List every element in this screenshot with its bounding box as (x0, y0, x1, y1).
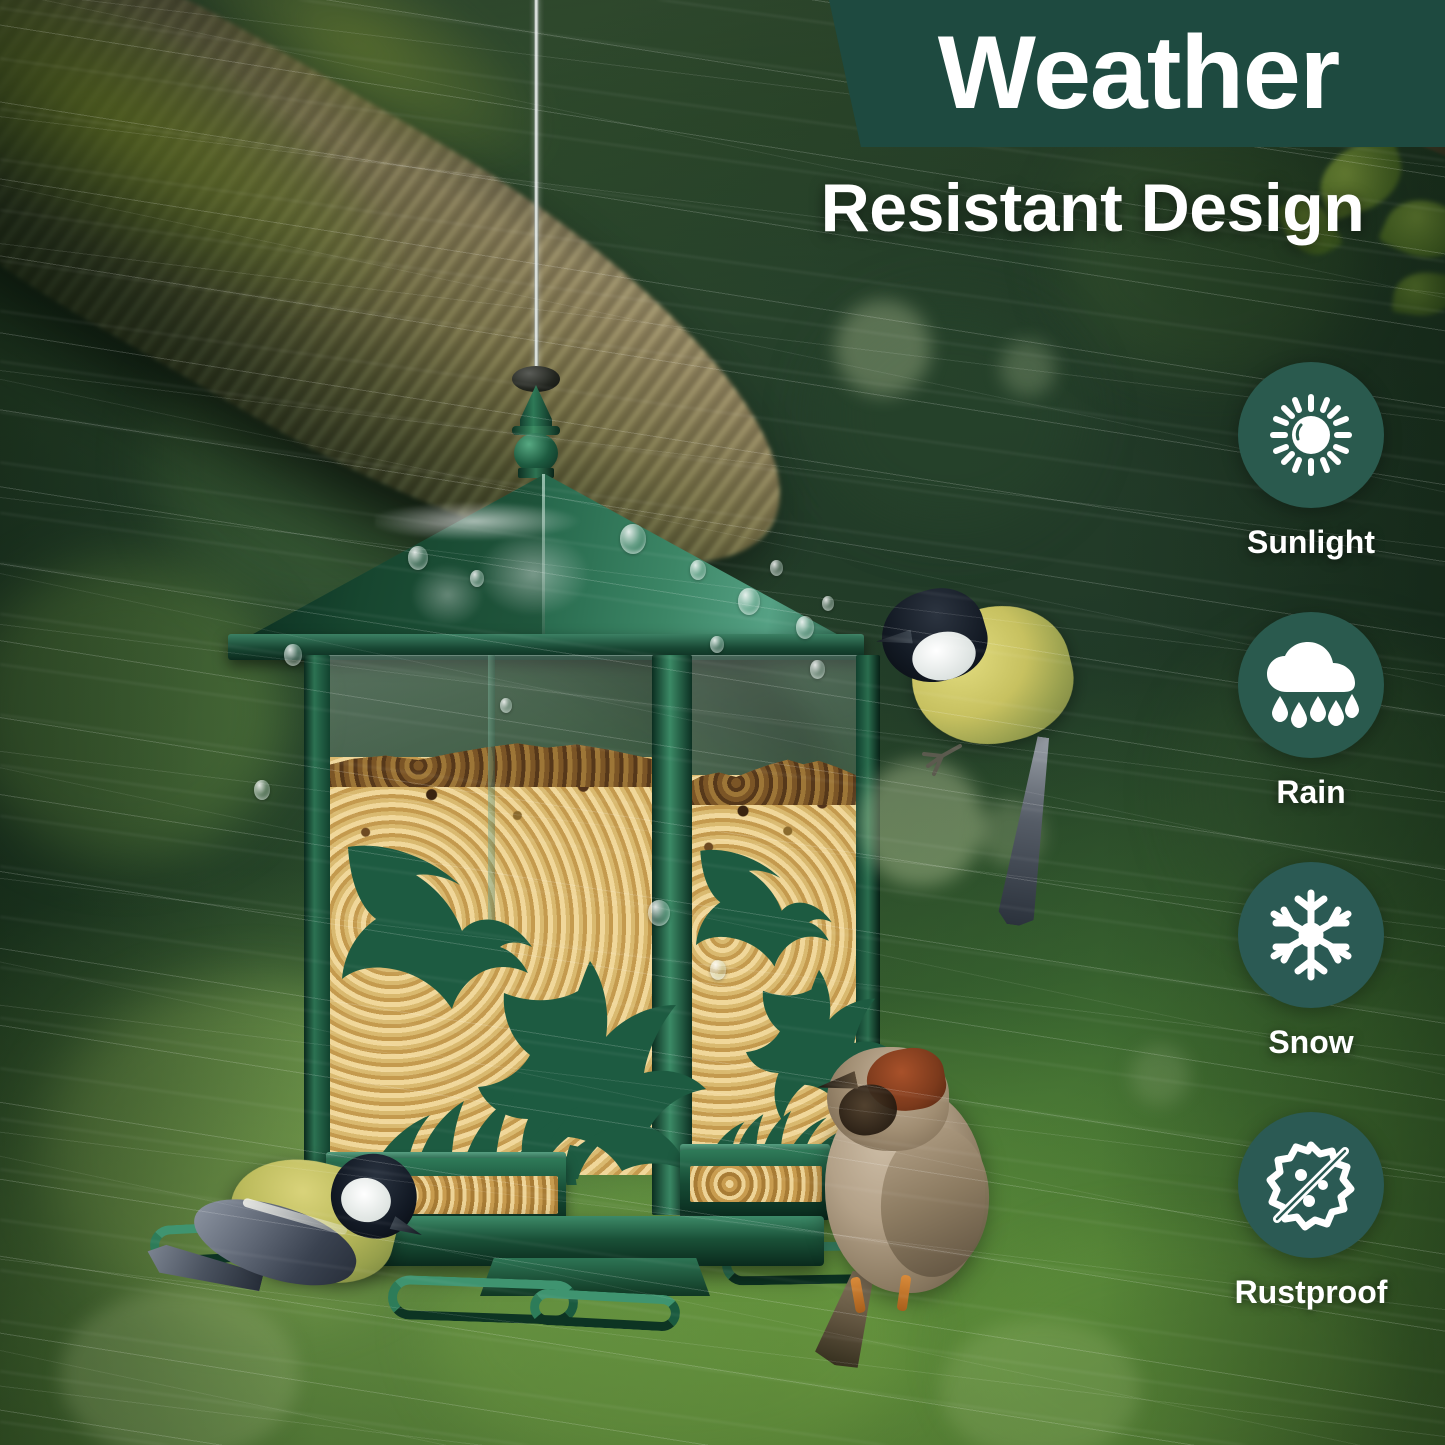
water-droplet (690, 560, 706, 580)
feature-rain[interactable]: Rain (1186, 612, 1436, 811)
page-title-line1: Weather (806, 0, 1445, 147)
feature-label: Rustproof (1186, 1274, 1436, 1311)
perch-ring (529, 1288, 681, 1332)
feature-label: Rain (1186, 774, 1436, 811)
feature-badge-circle (1238, 862, 1384, 1008)
great-tit-feeding (145, 1148, 455, 1348)
water-droplet (470, 570, 484, 587)
house-sparrow-perched (805, 1035, 1025, 1365)
great-tit-in-flight (870, 440, 1200, 900)
water-droplet (254, 780, 270, 800)
snowflake-icon (1265, 889, 1357, 981)
water-droplet (648, 900, 670, 926)
water-droplet (284, 644, 302, 666)
feature-badge-circle (1238, 612, 1384, 758)
water-droplet (710, 636, 724, 653)
water-droplet (796, 616, 814, 639)
rustproof-icon (1265, 1139, 1357, 1231)
hummingbird-cutout (696, 843, 846, 973)
finial-ball (514, 433, 558, 473)
water-droplet (810, 660, 825, 679)
feature-badge-circle (1238, 1112, 1384, 1258)
water-droplet (770, 560, 783, 576)
feature-sunlight[interactable]: Sunlight (1186, 362, 1436, 561)
frame-post-left (304, 655, 330, 1215)
feature-label: Sunlight (1186, 524, 1436, 561)
rain-cloud-icon (1263, 642, 1359, 728)
feature-snow[interactable]: Snow (1186, 862, 1436, 1061)
tray-birdseed (690, 1166, 822, 1202)
roof-finial (520, 385, 552, 429)
feature-badge-list: Sunlight Rain (1186, 362, 1436, 1362)
hang-wire (534, 0, 539, 371)
water-droplet (738, 588, 760, 615)
bokeh-light (1000, 340, 1056, 396)
water-droplet (500, 698, 512, 713)
bokeh-light (1130, 1045, 1190, 1105)
sun-icon (1265, 389, 1357, 481)
water-droplet (408, 546, 428, 570)
product-marketing-image: Weather Resistant Design (0, 0, 1445, 1445)
feeder-body (258, 655, 834, 1215)
water-droplet (710, 960, 726, 980)
bird-legs (920, 742, 968, 782)
feature-badge-circle (1238, 362, 1384, 508)
water-droplet (620, 524, 646, 554)
page-title-line2: Resistant Design (740, 162, 1445, 254)
bird-tail (997, 734, 1059, 927)
feature-label: Snow (1186, 1024, 1436, 1061)
water-droplet (822, 596, 834, 611)
feature-rustproof[interactable]: Rustproof (1186, 1112, 1436, 1311)
